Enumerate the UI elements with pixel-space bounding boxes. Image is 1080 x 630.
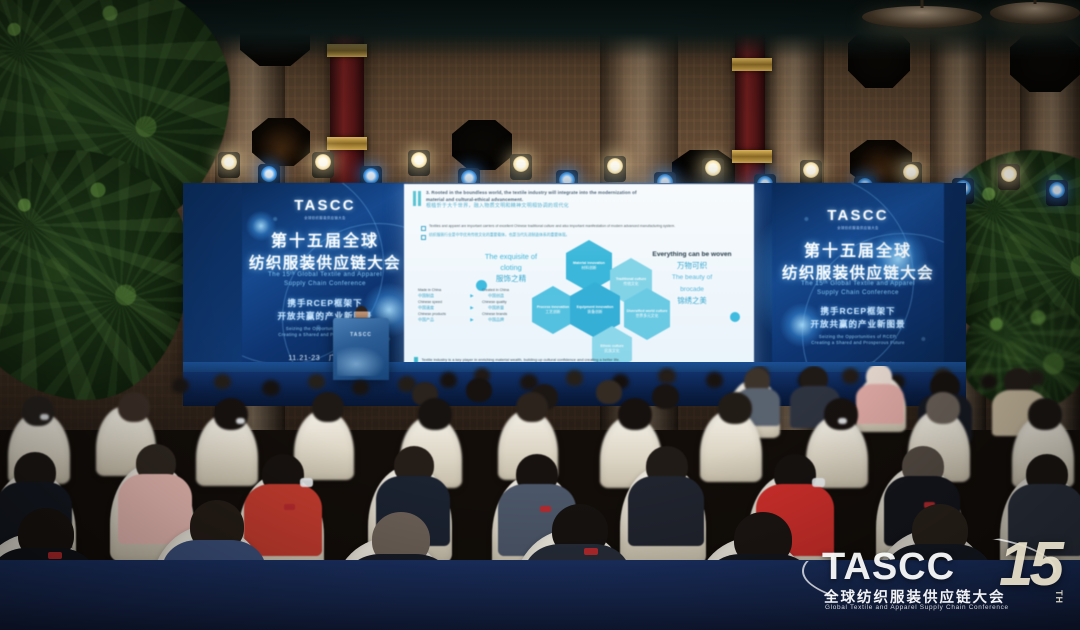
banner-title-cn1-left: 第十五届全球 <box>242 227 408 251</box>
banner-logo-sub-left: 全球纺织服装供应链大会 <box>242 215 408 220</box>
heading-accent-bars-icon <box>413 191 421 211</box>
stage-light <box>1046 180 1068 206</box>
stage-light <box>604 156 626 182</box>
bullet-cn: 纺织服装行业是中华优秀传统文化的重要载体，也是当代先进制造体系的重要体现。 <box>429 233 569 240</box>
bullet-item: 纺织服装行业是中华优秀传统文化的重要载体，也是当代先进制造体系的重要体现。 <box>421 233 744 240</box>
banner-title-cn2-left: 纺织服装供应链大会 <box>242 251 408 273</box>
made-in-right-cn: 中国质量 <box>488 305 526 311</box>
made-in-row-cn: 中国制造 ▶ 中国创造 <box>418 293 526 299</box>
aisle-carpet <box>0 560 1080 630</box>
banner-title-en1-left: The 15ᵗʰ Global Textile and Apparel <box>242 271 408 280</box>
banner-theme-cn1-left: 携手RCEP框架下 <box>242 297 408 310</box>
hexagon-process-innovation: Process innovation 工艺创新 <box>532 286 574 334</box>
made-in-right-cn: 中国创造 <box>488 293 526 299</box>
made-in-china-list: Made in China Created in China 中国制造 ▶ 中国… <box>418 288 526 324</box>
banner-logo-right: TASCC <box>827 207 889 224</box>
stage-light <box>702 158 724 184</box>
made-in-row-cn: 中国速度 ▶ 中国质量 <box>418 305 526 311</box>
banner-title-en2-right: Supply Chain Conference <box>772 289 944 298</box>
made-in-right-en: Created in China <box>482 288 526 292</box>
pendant-light <box>990 2 1080 24</box>
made-in-right-en: Chinese quality <box>482 300 526 304</box>
banner-title-cn1-right: 第十五届全球 <box>772 237 944 261</box>
made-in-row: Made in China Created in China <box>418 288 526 292</box>
right-heading-dot-icon <box>730 312 740 322</box>
stage-light <box>408 150 430 176</box>
banner-logo-sub-right: 全球纺织服装供应链大会 <box>772 225 944 230</box>
pendant-light <box>862 6 982 28</box>
made-in-left-cn: 中国产品 <box>418 317 456 323</box>
banner-theme-en2-right: Creating a Shared and Prosperous Future <box>772 340 944 347</box>
screenshot-root: TASCC 全球纺织服装供应链大会 第十五届全球 纺织服装供应链大会 The 1… <box>0 0 1080 630</box>
slide-heading: 3. Rooted in the boundless world, the te… <box>413 190 746 211</box>
stage-light <box>312 152 334 178</box>
hex-cn: 世界多元文化 <box>627 314 668 319</box>
bullet-square-icon <box>421 235 426 240</box>
made-in-right-en: Chinese brands <box>482 312 526 316</box>
made-in-right-cn: 中国品牌 <box>488 317 526 323</box>
banner-logo-left: TASCC <box>294 197 356 214</box>
arrow-right-icon: ▶ <box>470 293 473 299</box>
hex-cn: 民族文化 <box>600 349 623 354</box>
arrow-right-icon: ▶ <box>470 305 473 311</box>
hex-cn: 传统文化 <box>616 282 646 287</box>
banner-theme-en1-right: Seizing the Opportunities of RCEP, <box>772 334 944 341</box>
column-gold-band <box>327 137 367 150</box>
stage-banner-right: TASCC 全球纺织服装供应链大会 第十五届全球 纺织服装供应链大会 The 1… <box>772 183 944 383</box>
banner-title-en2-left: Supply Chain Conference <box>242 280 408 289</box>
made-in-row: Chinese speed Chinese quality <box>418 300 526 304</box>
podium-logo: TASCC <box>341 332 381 338</box>
hex-cn: 装备创新 <box>577 310 614 315</box>
made-in-row: Chinese products Chinese brands <box>418 312 526 316</box>
slide-heading-en-1: 3. Rooted in the boundless world, the te… <box>426 190 746 197</box>
made-in-left-en: Made in China <box>418 288 462 292</box>
projection-screen: 3. Rooted in the boundless world, the te… <box>404 184 754 382</box>
made-in-left-cn: 中国制造 <box>418 293 456 299</box>
stage-light <box>510 154 532 180</box>
bullet-en: Textiles and apparel are important carri… <box>429 224 675 231</box>
made-in-left-en: Chinese products <box>418 312 462 316</box>
made-in-row-cn: 中国产品 ▶ 中国品牌 <box>418 317 526 323</box>
bullet-item: Textiles and apparel are important carri… <box>421 224 744 231</box>
banner-theme-cn1-right: 携手RCEP框架下 <box>772 305 944 318</box>
arrow-right-icon: ▶ <box>470 317 473 323</box>
hex-cn: 工艺创新 <box>537 310 569 315</box>
slide-heading-cn: 根植忻于大千世界，融入物质文明和精神文明相协调的现代化 <box>426 203 746 211</box>
stage-light <box>998 164 1020 190</box>
made-in-left-cn: 中国速度 <box>418 305 456 311</box>
audience <box>0 366 1080 630</box>
hexagon-material-innovation: Material innovation 材料创新 <box>566 240 612 292</box>
banner-title-en1-right: The 15ᵗʰ Global Textile and Apparel <box>772 280 944 289</box>
bullet-square-icon <box>421 226 426 231</box>
banner-date-left: 11.21-23 <box>288 355 320 362</box>
hex-cn: 材料创新 <box>573 266 605 271</box>
made-in-left-en: Chinese speed <box>418 300 462 304</box>
hexagon-diagram: Material innovation 材料创新 Traditional cul… <box>532 240 692 365</box>
banner-theme-cn2-right: 开放共赢的产业新图景 <box>772 318 944 331</box>
stage-light <box>218 152 240 178</box>
